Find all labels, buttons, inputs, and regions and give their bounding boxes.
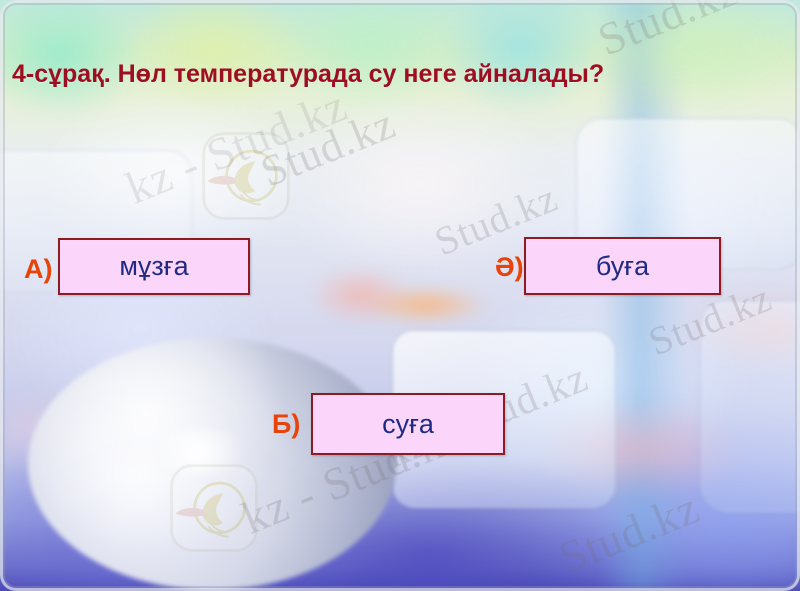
option-box-a[interactable]: мұзға (58, 238, 250, 295)
pearl-sphere-highlight (138, 430, 258, 474)
background-cube-right (700, 300, 800, 512)
option-box-b[interactable]: суға (311, 393, 505, 455)
option-text-b: суға (382, 411, 434, 438)
option-text-a: мұзға (119, 253, 188, 280)
option-box-e[interactable]: буға (524, 237, 721, 295)
option-text-e: буға (596, 253, 649, 280)
question-title: 4-сұрақ. Нөл температурада су неге айнал… (12, 58, 612, 92)
option-label-b: Б) (272, 409, 300, 440)
option-label-a: А) (24, 254, 53, 285)
quiz-slide: Stud.kz Stud.kz Stud.kz kz - Stud.kz kz … (0, 0, 800, 591)
option-label-e: Ә) (495, 252, 524, 283)
